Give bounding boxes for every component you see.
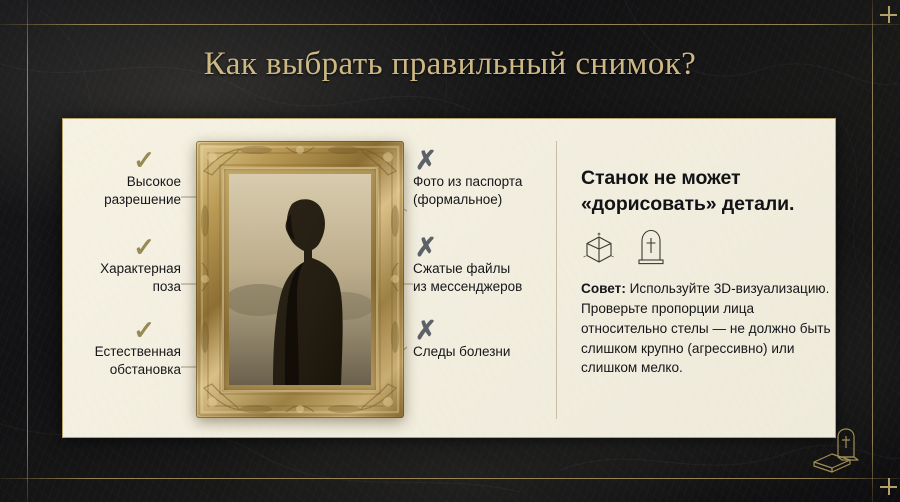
criteria-bad-item-3: ✗ Следы болезни [413,317,558,361]
criteria-bad-item-2: ✗ Сжатые файлыиз мессенджеров [413,234,558,296]
cube-3d-icon [582,231,616,265]
portrait-silhouette [229,174,371,385]
check-icon: ✓ [63,147,155,173]
check-icon: ✓ [63,234,155,260]
portrait-frame [196,141,404,418]
criteria-bad-item-1: ✗ Фото из паспорта(формальное) [413,147,553,209]
content-panel: ✓ Высокоеразрешение ✓ Характернаяпоза ✓ … [62,118,836,438]
frame-inner-bevel [222,167,378,392]
right-icons-row [582,227,668,265]
cross-icon: ✗ [415,147,553,173]
guide-line-top [0,24,900,25]
registration-mark-top-right [880,6,897,23]
tip-text: Совет: Используйте 3D-визуализацию. Пров… [581,279,836,378]
criteria-bad-label-1: Фото из паспорта(формальное) [413,174,522,207]
gravestone-icon [634,227,668,265]
registration-mark-bottom-right [880,478,897,495]
cross-icon: ✗ [415,234,558,260]
criteria-bad-label-3: Следы болезни [413,344,510,359]
page-title: Как выбрать правильный снимок? [0,46,900,83]
slide-canvas: Как выбрать правильный снимок? ✓ Высокое… [0,0,900,502]
portrait-photo [229,174,371,385]
criteria-good-label-2: Характернаяпоза [100,261,181,294]
criteria-good-item-3: ✓ Естественнаяобстановка [63,317,181,379]
criteria-good-label-1: Высокоеразрешение [104,174,181,207]
tip-label: Совет: [581,281,626,296]
criteria-good-item-1: ✓ Высокоеразрешение [63,147,181,209]
memorial-stone-icon [806,424,868,474]
right-heading: Станок не может«дорисовать» детали. [581,165,831,217]
criteria-good-label-3: Естественнаяобстановка [95,344,181,377]
criteria-good-item-2: ✓ Характернаяпоза [63,234,181,296]
guide-line-bottom [0,478,900,479]
cross-icon: ✗ [415,317,558,343]
criteria-bad-label-2: Сжатые файлыиз мессенджеров [413,261,522,294]
check-icon: ✓ [63,317,155,343]
